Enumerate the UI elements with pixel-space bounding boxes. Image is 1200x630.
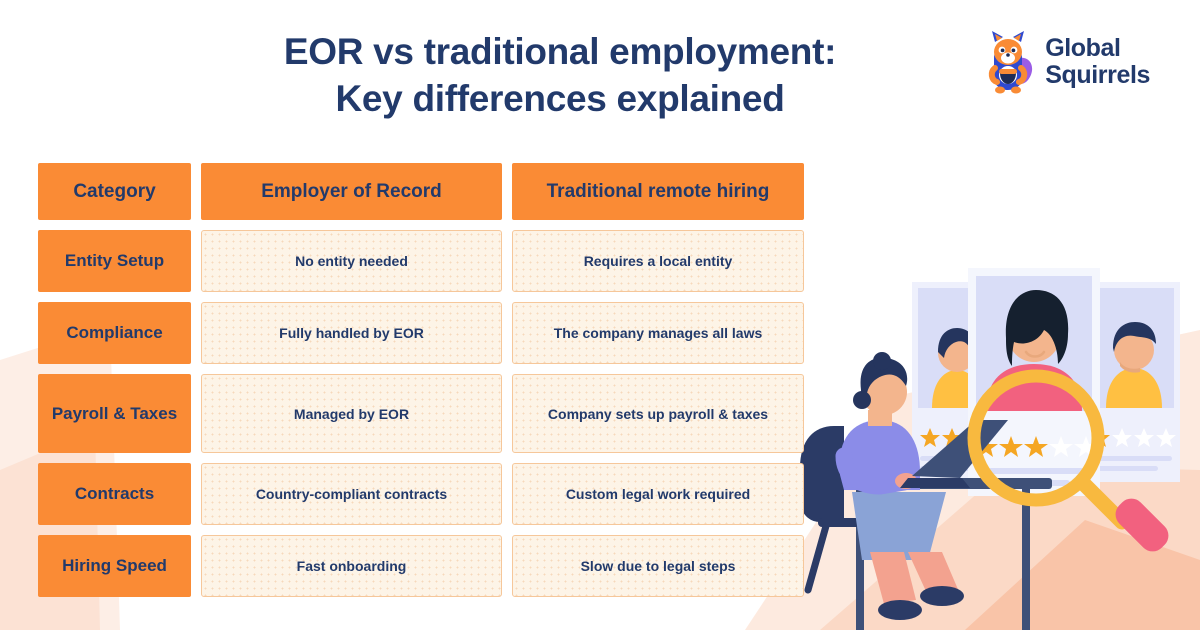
- brand-logo[interactable]: Global Squirrels: [978, 28, 1150, 96]
- header: EOR vs traditional employment: Key diffe…: [0, 0, 1200, 150]
- row-eor-value: Managed by EOR: [201, 374, 502, 453]
- brand-name-line-1: Global: [1045, 35, 1150, 62]
- row-eor-value: Fast onboarding: [201, 535, 502, 597]
- row-traditional-value: Slow due to legal steps: [512, 535, 804, 597]
- row-category-label: Payroll & Taxes: [38, 374, 191, 453]
- table-header-category: Category: [38, 163, 191, 220]
- row-traditional-value: Custom legal work required: [512, 463, 804, 525]
- row-traditional-value: Company sets up payroll & taxes: [512, 374, 804, 453]
- table-header-traditional: Traditional remote hiring: [512, 163, 804, 220]
- recruiter-reviewing-candidate-profiles-illustration: [800, 260, 1200, 630]
- row-category-label: Entity Setup: [38, 230, 191, 292]
- brand-name: Global Squirrels: [1045, 35, 1150, 89]
- row-eor-value: Fully handled by EOR: [201, 302, 502, 364]
- row-eor-value: No entity needed: [201, 230, 502, 292]
- table-row: Entity Setup No entity needed Requires a…: [38, 230, 804, 292]
- row-traditional-value: Requires a local entity: [512, 230, 804, 292]
- table-header-row: Category Employer of Record Traditional …: [38, 163, 804, 220]
- table-row: Payroll & Taxes Managed by EOR Company s…: [38, 374, 804, 453]
- title-line-1: EOR vs traditional employment:: [284, 31, 836, 72]
- table-row: Compliance Fully handled by EOR The comp…: [38, 302, 804, 364]
- squirrel-mascot-icon: [978, 28, 1038, 96]
- brand-name-line-2: Squirrels: [1045, 62, 1150, 89]
- title-line-2: Key differences explained: [150, 75, 970, 122]
- row-category-label: Hiring Speed: [38, 535, 191, 597]
- table-row: Contracts Country-compliant contracts Cu…: [38, 463, 804, 525]
- table-header-eor: Employer of Record: [201, 163, 502, 220]
- table-row: Hiring Speed Fast onboarding Slow due to…: [38, 535, 804, 597]
- row-eor-value: Country-compliant contracts: [201, 463, 502, 525]
- page-title: EOR vs traditional employment: Key diffe…: [150, 28, 970, 123]
- row-traditional-value: The company manages all laws: [512, 302, 804, 364]
- row-category-label: Contracts: [38, 463, 191, 525]
- comparison-table: Category Employer of Record Traditional …: [38, 163, 804, 597]
- row-category-label: Compliance: [38, 302, 191, 364]
